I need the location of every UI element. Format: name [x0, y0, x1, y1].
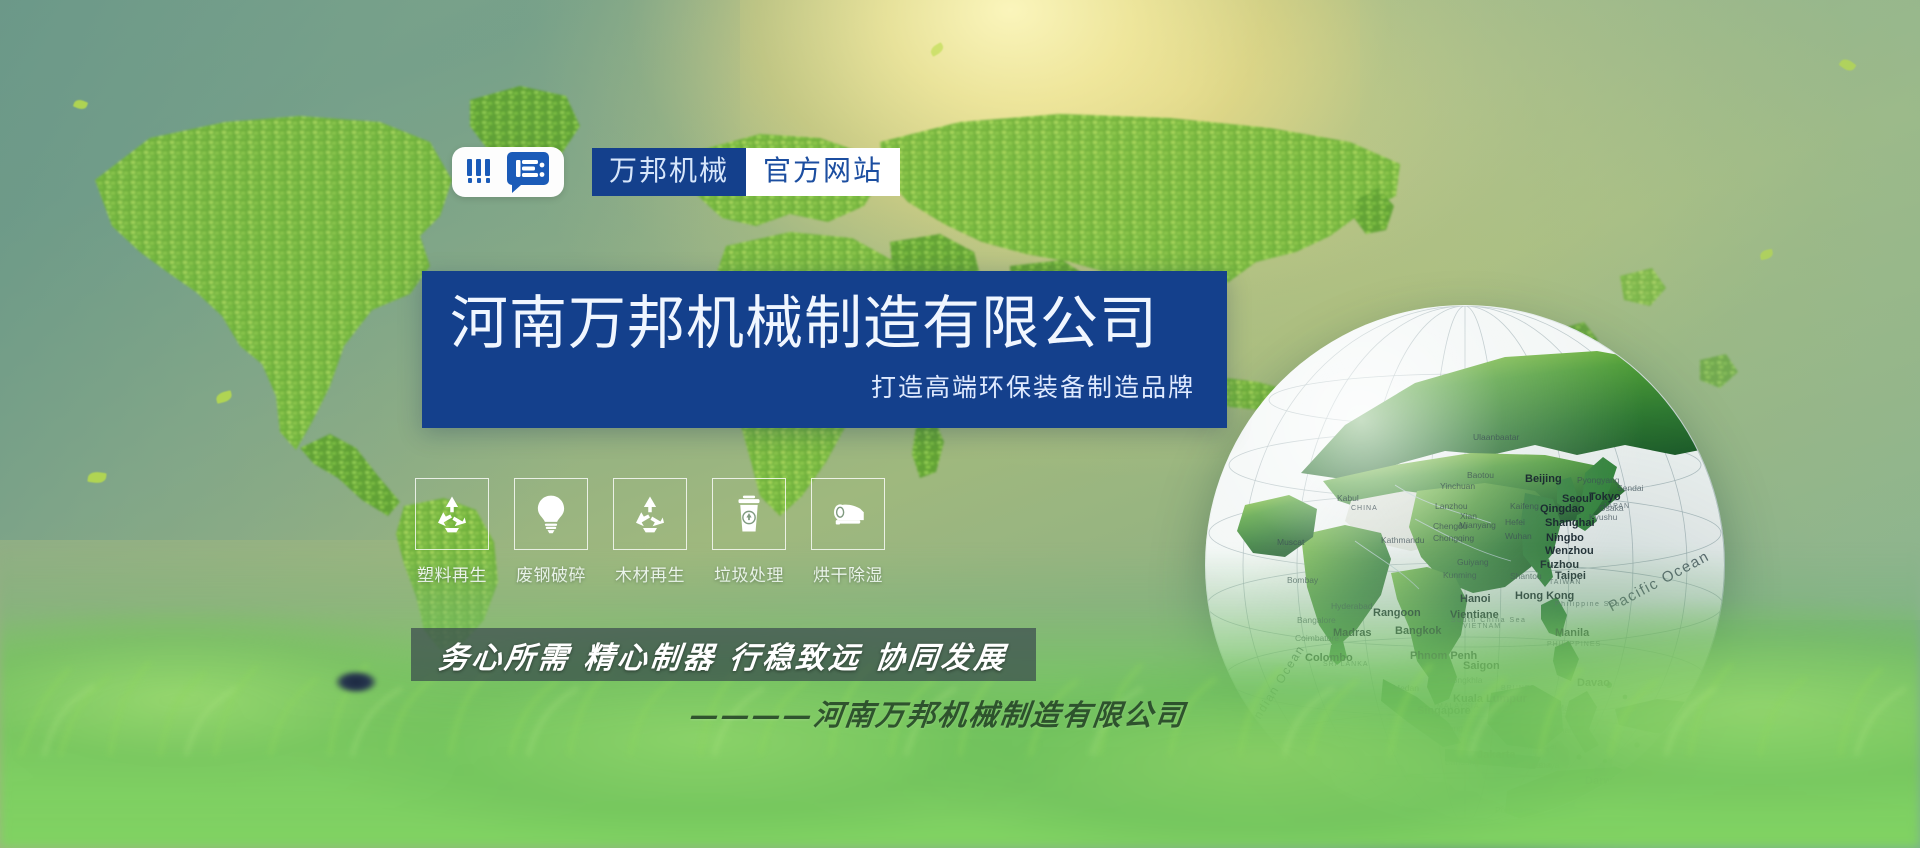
- hero-banner: UlaanbaatarBeijingBaotouYinchuanPyongyan…: [0, 0, 1920, 848]
- recycle-icon: [629, 493, 671, 535]
- official-site-label: 官方网站: [763, 157, 883, 185]
- wanbang-logo[interactable]: [452, 147, 564, 197]
- grass-insect: [335, 671, 377, 693]
- service-icon-box: [811, 478, 885, 550]
- company-title-panel: 河南万邦机械制造有限公司 打造高端环保装备制造品牌: [422, 271, 1227, 428]
- brand-name-box[interactable]: 万邦机械: [592, 148, 746, 196]
- w-mark-icon: [465, 157, 499, 187]
- official-site-box[interactable]: 官方网站: [746, 148, 900, 196]
- lightbulb-icon: [530, 493, 572, 535]
- service-icon-box: [415, 478, 489, 550]
- trash-bin-icon: [728, 493, 770, 535]
- b-speech-bubble-icon: [505, 150, 551, 194]
- brand-name-label: 万邦机械: [609, 157, 729, 185]
- service-icon-box: [514, 478, 588, 550]
- dryer-blower-icon: [827, 493, 869, 535]
- site-header: 万邦机械 官方网站: [452, 147, 900, 197]
- service-icon-box: [712, 478, 786, 550]
- slogan-band: 务心所需 精心制器 行稳致远 协同发展: [411, 628, 1036, 681]
- page-title: 河南万邦机械制造有限公司: [422, 293, 1199, 354]
- slogan-attribution: ————河南万邦机械制造有限公司: [687, 692, 1172, 734]
- slogan-text: 务心所需 精心制器 行稳致远 协同发展: [437, 633, 1010, 677]
- page-tagline: 打造高端环保装备制造品牌: [422, 368, 1199, 404]
- service-icon-box: [613, 478, 687, 550]
- recycle-icon: [431, 493, 473, 535]
